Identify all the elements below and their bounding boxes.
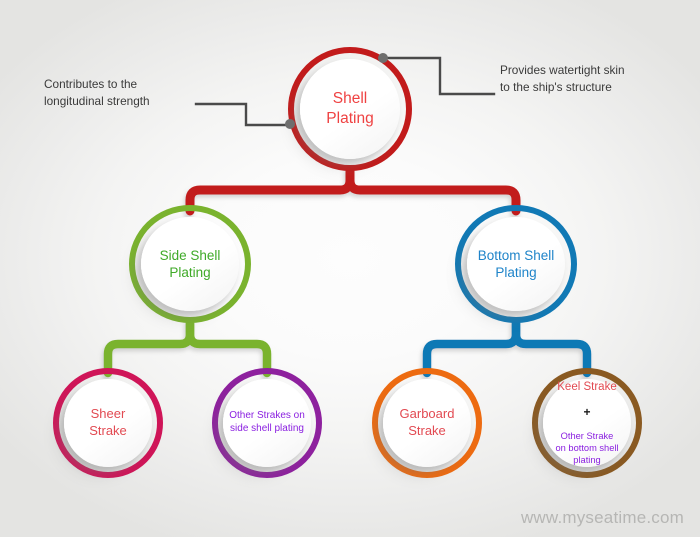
leader-line-left [196, 104, 292, 125]
annotation-left-text: Contributes to the longitudinal strength [44, 76, 194, 110]
node-other-strakes-side-shell-disc [223, 379, 311, 467]
node-side-shell-plating-disc [141, 217, 239, 311]
node-keel-strake[interactable]: Keel Strake + Other Strake on bottom she… [532, 368, 642, 478]
watermark: www.myseatime.com [521, 508, 684, 528]
leader-dot-left-icon [285, 119, 295, 129]
node-shell-plating-disc [300, 59, 400, 159]
node-sheer-strake-disc [64, 379, 152, 467]
node-garboard-strake[interactable]: Garboard Strake [372, 368, 482, 478]
diagram-canvas: Shell Plating Side Shell Plating Bottom … [0, 0, 700, 537]
connector-bottom-shell [427, 323, 587, 373]
leader-dot-right-icon [378, 53, 388, 63]
node-other-strakes-side-shell[interactable]: Other Strakes on side shell plating [212, 368, 322, 478]
connector-side-shell [108, 323, 267, 373]
node-garboard-strake-disc [383, 379, 471, 467]
node-bottom-shell-plating[interactable]: Bottom Shell Plating [455, 205, 577, 323]
connector-root [190, 171, 516, 211]
node-keel-strake-disc [543, 379, 631, 467]
node-sheer-strake[interactable]: Sheer Strake [53, 368, 163, 478]
node-side-shell-plating[interactable]: Side Shell Plating [129, 205, 251, 323]
annotation-right-text: Provides watertight skin to the ship's s… [500, 62, 670, 96]
node-shell-plating[interactable]: Shell Plating [288, 47, 412, 171]
node-bottom-shell-plating-disc [467, 217, 565, 311]
